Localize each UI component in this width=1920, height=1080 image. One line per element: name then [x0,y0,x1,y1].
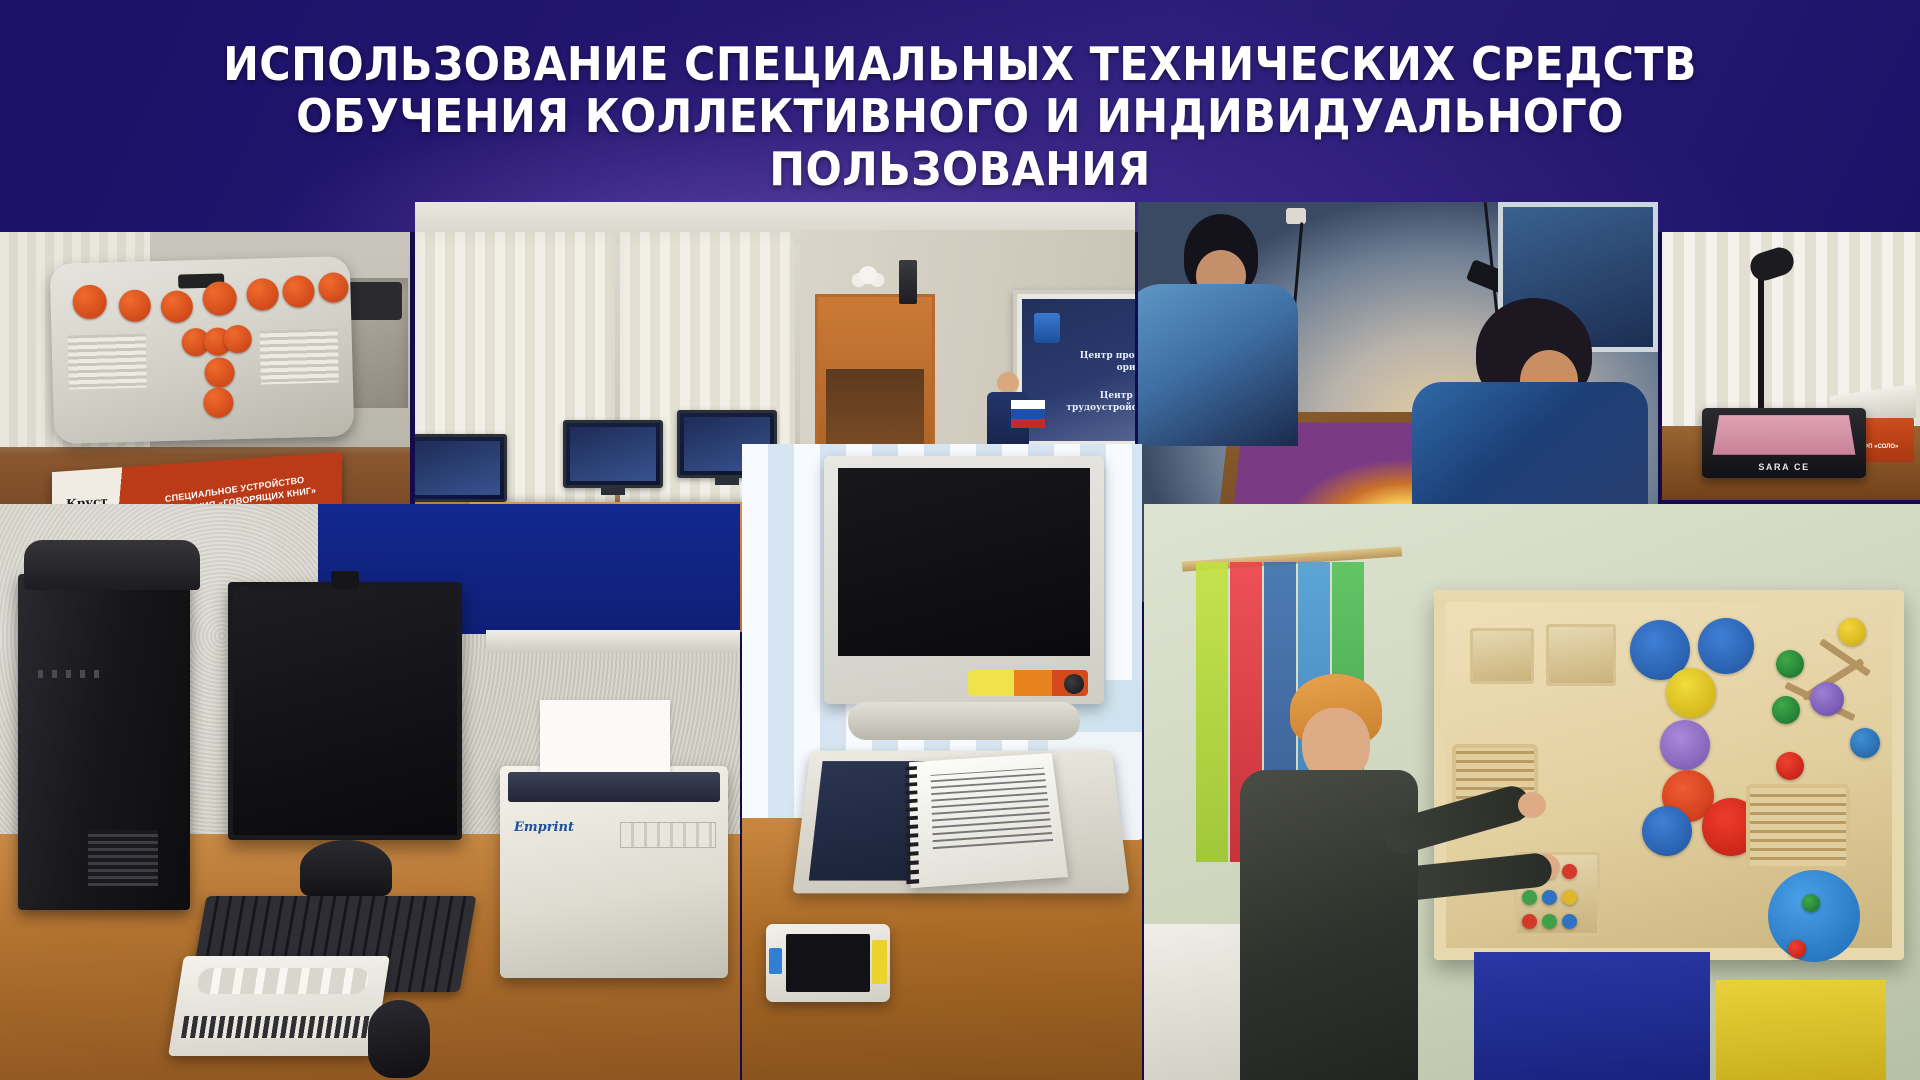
disc-knob [1802,894,1820,912]
embosser-brand-label: Emprint [514,820,574,835]
talking-book-device [50,256,355,444]
computer-tower [18,574,190,910]
whiteboard-heading-1: Центр профессиональной ориентации [1022,351,1135,374]
blue-soft-module [1474,952,1710,1080]
abacus-bead [1562,864,1577,879]
dust-cover [24,540,200,590]
magnifier-zoom-knob [1064,674,1084,694]
spiral-bound-book [909,753,1068,888]
abacus-bead [1542,914,1557,929]
spec-sticker [88,830,158,886]
embosser-control-panel [620,822,716,848]
tactile-panel-flag [1470,628,1534,684]
flower-arrangement-top [847,258,889,296]
speaker-grill-left [68,333,147,389]
instructor-clothing [1138,284,1298,446]
printer-paper-slot [508,772,720,802]
photo-tactile-activity-board [1144,504,1920,1080]
photo-sara-ce-reader: ТФП «СОЛО» SARA CE [1662,232,1920,500]
device-button-10 [223,325,252,354]
braille-display [168,956,390,1056]
braille-embosser-printer: Emprint [500,766,728,978]
molecule-ball-yellow [1838,618,1866,646]
gear-purple [1660,720,1710,770]
device-button-7 [318,272,349,303]
device-button-6 [282,275,315,308]
abacus-bead [1542,890,1557,905]
student-monitor-1 [415,434,507,502]
braille-cells-row [181,1016,370,1038]
computer-mouse [368,1000,430,1078]
audio-speaker [899,260,917,304]
tactile-panel-fan [1546,624,1616,686]
handheld-screen [786,934,870,992]
page-title: ИСПОЛЬЗОВАНИЕ СПЕЦИАЛЬНЫХ ТЕХНИЧЕСКИХ СР… [132,0,1787,195]
camera-pole [1758,274,1764,414]
lcd-monitor [228,582,462,840]
molecule-ball-blue [1850,728,1880,758]
ribbon-green [1196,562,1228,862]
monitor-stand [300,840,392,896]
russian-flag [1011,400,1045,428]
organization-logo [1034,313,1060,343]
book-spiral-binding [905,765,919,884]
title-banner: ИСПОЛЬЗОВАНИЕ СПЕЦИАЛЬНЫХ ТЕХНИЧЕСКИХ СР… [0,0,1920,232]
book-text-block [931,768,1054,849]
device-model-label: SARA CE [1702,462,1866,472]
magnifier-screen [838,468,1090,656]
magnifier-camera-arm [848,702,1080,740]
molecule-ball-green [1776,650,1804,678]
braille-input-keys [196,968,370,994]
handheld-electronic-magnifier [766,924,890,1002]
abacus-bead [1522,914,1537,929]
yellow-soft-module [1716,980,1886,1080]
white-cabinet [1144,924,1246,1080]
scanned-page [1713,415,1856,455]
device-button-3 [160,290,193,323]
molecule-ball-purple [1810,682,1844,716]
disc-knob-2 [1788,940,1806,958]
presenter-head [997,372,1019,394]
student-jacket [1240,770,1418,1080]
instructor-person [1138,214,1298,464]
speaker-grill-right [260,328,339,384]
handheld-yellow-button [872,940,887,984]
rotating-disc [1768,870,1860,962]
gear-blue-small [1642,806,1692,856]
abacus-bead [1562,914,1577,929]
molecule-ball-green-2 [1772,696,1800,724]
abacus-bead [1522,890,1537,905]
webcam [331,571,359,589]
photo-collage: Круст СПЕЦИАЛЬНОЕ УСТРОЙСТВО ДЛЯ ЧТЕНИЯ … [0,232,1920,1080]
device-button-5 [246,278,279,311]
student-hand-left [1518,792,1546,818]
student-monitor-2 [563,420,663,488]
student-at-board [1232,674,1462,1080]
wall-shelf [486,630,740,652]
wooden-sensory-board [1434,590,1904,960]
abacus-bead [1562,890,1577,905]
device-button-2 [118,289,151,322]
photo-braille-workstation: Emprint [0,504,740,1080]
gear-yellow [1666,668,1716,718]
printer-paper-sheet [540,700,670,782]
tactile-roller-right [1746,784,1850,870]
monitor-screen-content [570,427,656,481]
front-panel-ports [38,670,108,678]
gear-blue [1698,618,1754,674]
handheld-blue-button [769,948,782,974]
photo-video-magnifier [742,444,1142,1080]
device-button-4 [202,281,237,316]
magnifier-display [824,456,1104,704]
device-button-1 [72,284,107,319]
molecule-ball-red [1776,752,1804,780]
device-button-12 [203,387,234,418]
device-button-11 [204,357,235,388]
monitor-screen-content [415,441,500,495]
